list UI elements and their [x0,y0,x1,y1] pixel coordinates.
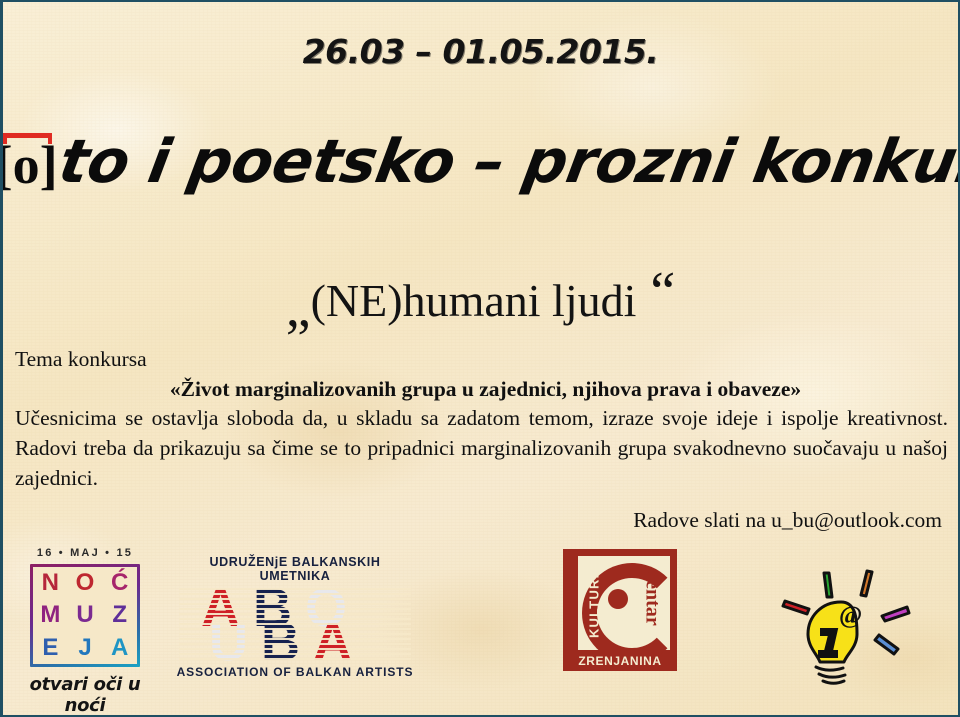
kcz-box: KULTURNI centar ZRENJANINA [563,549,677,671]
lightbulb-icon: @ [769,545,939,695]
title-bracket-open: [ [0,135,13,195]
date-line: 26.03 – 01.05.2015. [3,32,958,71]
ray-magenta-icon [882,607,909,621]
description-paragraph: Učesnicima se ostavlja sloboda da, u skl… [15,404,948,493]
uba-mark-letter-3: U [209,615,248,663]
noc-muzeja-date: 16 • MAJ • 15 [9,547,161,559]
subtitle: „(NE)humani ljudi“ [3,260,958,340]
red-bracket-mark-icon [3,133,52,138]
bulb-base-line-1 [816,667,843,670]
noc-muzeja-letter-4: U [76,601,93,629]
kcz-kulturni-text: KULTURNI [587,553,602,649]
body-text-block: Tema konkursa «Život marginalizovanih gr… [15,345,948,535]
tema-konkursa-label: Tema konkursa [15,345,948,374]
logo-strip: 16 • MAJ • 15 NOĆMUZEJA otvari oči u noć… [3,539,958,707]
bulb-at-symbol: @ [839,602,862,629]
uba-name-serbian: UDRUŽENjE BALKANSKIH UMETNIKA [175,555,415,583]
uba-mark-letter-4: B [261,615,300,663]
ray-green-icon [824,573,832,597]
noc-muzeja-tagline: otvari oči u noći [9,674,161,716]
noc-muzeja-letter-2: Ć [111,569,128,597]
logo-kulturni-centar-zrenjanina: KULTURNI centar ZRENJANINA [563,549,683,671]
logo-uba: UDRUŽENjE BALKANSKIH UMETNIKA ABOUBA ASS… [175,555,415,679]
logo-lightbulb: @ [769,545,939,695]
noc-muzeja-letter-8: A [111,634,128,662]
bulb-base-line-3 [823,681,844,683]
uba-name-english: ASSOCIATION OF BALKAN ARTISTS [175,665,415,679]
subtitle-quote-open: „ [286,277,311,339]
noc-muzeja-letter-1: O [76,569,95,597]
title-rest: to i poetsko – prozni konkurs [54,132,960,192]
ray-blue-icon [875,635,898,654]
poster-canvas: 26.03 – 01.05.2015. F [o] to i poetsko –… [0,0,960,717]
ray-orange-icon [861,571,872,596]
submission-email-line: Radove slati na u_bu@outlook.com [15,506,948,535]
bulb-base-line-2 [819,674,845,677]
ray-red-icon [783,601,809,614]
main-title: F [o] to i poetsko – prozni konkurs [3,114,958,210]
title-bracket-group: [o] [0,132,58,192]
logo-noc-muzeja: 16 • MAJ • 15 NOĆMUZEJA otvari oči u noć… [9,547,161,716]
subtitle-quote-close: “ [650,261,675,323]
title-bracket-letter: o [13,135,40,195]
kcz-centar-text: centar [641,562,664,636]
noc-muzeja-letter-7: J [78,634,91,662]
kcz-zrenjanina-text: ZRENJANINA [565,654,675,668]
kcz-dot-icon [608,589,628,609]
uba-mark-letter-5: A [313,615,352,663]
noc-muzeja-letter-0: N [42,569,59,597]
noc-muzeja-letter-6: E [42,634,58,662]
subtitle-text: (NE)humani ljudi [311,275,637,326]
noc-muzeja-letter-5: Z [112,601,127,629]
tema-konkursa-value: «Život marginalizovanih grupa u zajednic… [15,375,948,404]
noc-muzeja-letter-grid: NOĆMUZEJA [30,564,140,667]
uba-mark: ABOUBA [179,585,411,663]
noc-muzeja-letter-3: M [40,601,60,629]
